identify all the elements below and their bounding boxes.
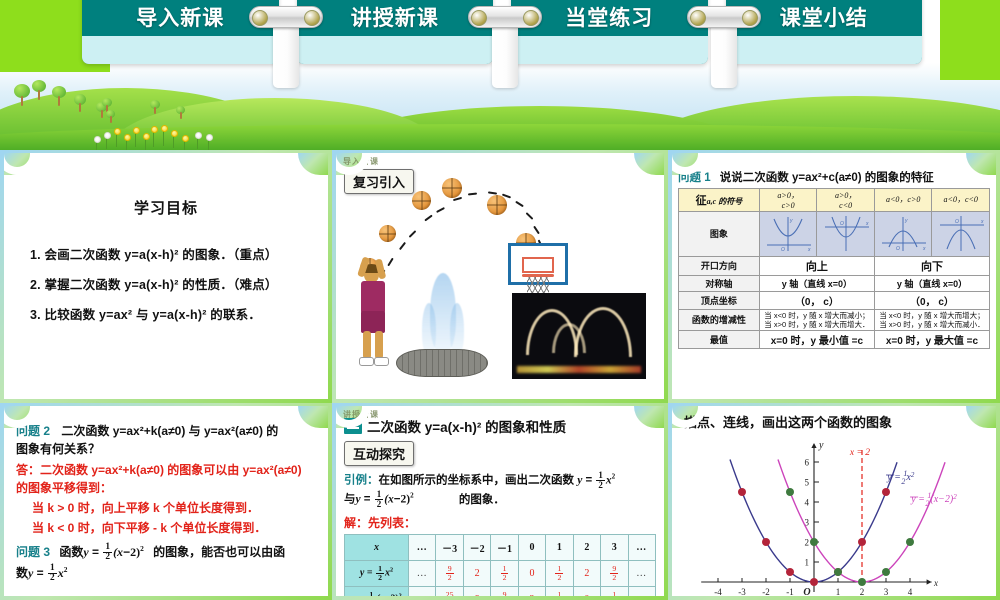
data-point-series-1 bbox=[738, 488, 746, 496]
table-cell: … bbox=[409, 534, 436, 560]
properties-table: 征a,c 的符号 a>0，c>0 a>0，c<0 a<0，c>0 a<0，c<0 bbox=[678, 188, 990, 350]
x-tick-label: 1 bbox=[836, 587, 841, 596]
tree-icon bbox=[150, 100, 161, 116]
table-cell: 12 bbox=[546, 586, 573, 596]
row-header-sign: 征a,c 的符号 bbox=[679, 188, 760, 211]
tab-clip-2 bbox=[468, 6, 542, 28]
table-cell: －3 bbox=[436, 534, 463, 560]
section-heading-text: 二次函数 y=a(x-h)² 的图象和性质 bbox=[367, 416, 566, 436]
table-cell: 92 bbox=[491, 586, 518, 596]
question3-line-cont: 数y = 12x2 bbox=[16, 564, 318, 584]
question1-text: 说说二次函数 y=ax²+c(a≠0) 的图象的特征 bbox=[720, 172, 934, 184]
mini-graph-cell: y O x bbox=[759, 211, 817, 256]
fountain-jet bbox=[450, 303, 464, 355]
question2-line1: 问题 2 二次函数 y=ax²+k(a≠0) 与 y=ax²(a≠0) 的 bbox=[16, 422, 318, 440]
table-cell: 2 bbox=[518, 586, 545, 596]
answer-line1: 答：二次函数 y=ax²+k(a≠0) 的图象可以由 y=ax²(a≠0) bbox=[16, 461, 318, 479]
x-tick-label: 4 bbox=[908, 587, 913, 596]
basketball-icon bbox=[487, 195, 507, 215]
example-line2: 与y = 12(x−2)2 的图象． bbox=[344, 490, 656, 509]
panel-teaching-table: 讲授新课 二次函数 y=a(x-h)² 的图象和性质 互动探究 引例：在如图所示… bbox=[332, 403, 668, 600]
slide-panel-grid: 学习目标 1. 会画二次函数 y=a(x-h)² 的图象．（重点） 2. 掌握二… bbox=[0, 150, 1000, 600]
table-cell: … bbox=[628, 560, 656, 586]
trajectory-dash bbox=[424, 215, 432, 222]
trajectory-dash bbox=[533, 226, 540, 235]
example-line1: 引例：在如图所示的坐标系中，画出二次函数 y = 12x2 bbox=[344, 471, 656, 490]
y-tick-label: 2 bbox=[805, 538, 810, 548]
question3-text-3: 数 bbox=[16, 566, 28, 580]
data-point-series-2 bbox=[810, 538, 818, 546]
y-axis-arrow bbox=[811, 443, 816, 448]
x-tick-label: -2 bbox=[762, 587, 770, 596]
example-label: 引例： bbox=[344, 475, 379, 487]
mini-parabola-up-below: O x bbox=[819, 213, 873, 253]
tab-daoru-xinke[interactable]: 导入新课 bbox=[82, 0, 279, 64]
table-cell: 当 x<0 时，y 随 x 增大而减小；当 x>0 时，y 随 x 增大而增大． bbox=[759, 309, 874, 331]
table-cell: 0 bbox=[518, 560, 545, 586]
question1-label: 问题 1 bbox=[678, 172, 711, 184]
table-cell: a<0，c<0 bbox=[932, 188, 990, 211]
question3-text-2: 的图象，能否也可以由函 bbox=[153, 545, 285, 559]
tab-clip-1 bbox=[249, 6, 323, 28]
table-cell: … bbox=[628, 586, 656, 596]
parabola-chart: xy-4-3-2-11234O123456x = 2y = 12x2y = 12… bbox=[672, 436, 996, 596]
table-cell: a<0，c>0 bbox=[874, 188, 932, 211]
table-cell: 1 bbox=[546, 534, 573, 560]
table-cell: 2 bbox=[573, 560, 600, 586]
trajectory-dash bbox=[526, 212, 534, 220]
goals-list: 1. 会画二次函数 y=a(x-h)² 的图象．（重点） 2. 掌握二次函数 y… bbox=[30, 244, 320, 323]
trajectory-dash bbox=[387, 258, 393, 267]
answer-line3: 当 k > 0 时，向上平移 k 个单位长度得到． bbox=[32, 499, 318, 517]
table-row: 对称轴 y 轴（直线 x=0） y 轴（直线 x=0） bbox=[679, 275, 990, 291]
table-row: 图象 y O x bbox=[679, 211, 990, 256]
banner-green-right bbox=[940, 0, 1000, 80]
tab-foot bbox=[511, 36, 708, 64]
trajectory-dash bbox=[436, 207, 445, 213]
values-table: x … －3 －2 －1 0 1 2 3 … y = 12x2 bbox=[344, 534, 656, 596]
tab-jiangshou-xinke[interactable]: 讲授新课 bbox=[297, 0, 494, 64]
table-cell: y 轴（直线 x=0） bbox=[759, 275, 874, 291]
table-row-label: x bbox=[345, 534, 409, 560]
fountain-base bbox=[396, 349, 488, 377]
tab-label: 当堂练习 bbox=[565, 2, 653, 32]
svg-text:x: x bbox=[865, 221, 869, 227]
hoop-inner-square bbox=[522, 257, 554, 273]
curve1-label: y = 12x2 bbox=[886, 469, 915, 486]
trajectory-dash bbox=[409, 230, 417, 238]
interactive-explore-badge: 互动探究 bbox=[344, 441, 414, 466]
table-row: y = 12(x−2)2 …252892212012… bbox=[345, 586, 656, 596]
svg-text:x: x bbox=[807, 247, 811, 253]
table-cell: 92 bbox=[436, 560, 463, 586]
row-label-monotonic: 函数的增减性 bbox=[679, 309, 760, 331]
basketball-icon bbox=[442, 178, 462, 198]
list-item: 3. 比较函数 y=ax² 与 y=a(x-h)² 的联系． bbox=[30, 304, 320, 323]
svg-text:x: x bbox=[922, 246, 926, 252]
hill-front bbox=[0, 124, 1000, 150]
table-cell: … bbox=[409, 586, 436, 596]
list-item: 1. 会画二次函数 y=a(x-h)² 的图象．（重点） bbox=[30, 244, 320, 263]
trajectory-dash bbox=[515, 201, 524, 207]
table-cell: … bbox=[409, 560, 436, 586]
table-row: x … －3 －2 －1 0 1 2 3 … bbox=[345, 534, 656, 560]
table-cell: 向下 bbox=[874, 256, 989, 275]
row-label-opening: 开口方向 bbox=[679, 256, 760, 275]
y-tick-label: 1 bbox=[805, 558, 810, 568]
panel-question1-table: 问题 1 说说二次函数 y=ax²+c(a≠0) 的图象的特征 征a,c 的符号… bbox=[668, 150, 1000, 403]
x-tick-label: -4 bbox=[714, 587, 722, 596]
x-tick-label: 3 bbox=[884, 587, 889, 596]
basketball-icon bbox=[412, 191, 431, 210]
list-item: 2. 掌握二次函数 y=a(x-h)² 的性质．（难点） bbox=[30, 274, 320, 293]
tab-foot bbox=[297, 36, 494, 64]
goals-title: 学习目标 bbox=[12, 197, 320, 218]
y-axis-label: y bbox=[818, 440, 824, 451]
question1-line: 问题 1 说说二次函数 y=ax²+c(a≠0) 的图象的特征 bbox=[678, 171, 990, 187]
tab-dangtang-lianxi[interactable]: 当堂练习 bbox=[511, 0, 708, 64]
svg-text:y: y bbox=[789, 218, 793, 224]
table-cell: 12 bbox=[546, 560, 573, 586]
answer-line4: 当 k < 0 时，向下平移 - k 个单位长度得到． bbox=[32, 519, 318, 537]
x-tick-label: -3 bbox=[738, 587, 746, 596]
top-banner: 导入新课 讲授新课 当堂练习 课堂小结 bbox=[0, 0, 1000, 150]
svg-text:O: O bbox=[896, 246, 900, 252]
y-tick-label: 4 bbox=[805, 498, 810, 508]
mini-parabola-up-above: y O x bbox=[761, 213, 815, 253]
data-point-series-1 bbox=[882, 488, 890, 496]
tree-icon bbox=[14, 84, 32, 108]
mini-parabola-down-below: O x bbox=[934, 213, 988, 253]
x-axis-label: x bbox=[933, 578, 938, 588]
y-tick-label: 6 bbox=[805, 458, 810, 468]
table-row: 函数的增减性 当 x<0 时，y 随 x 增大而减小；当 x>0 时，y 随 x… bbox=[679, 309, 990, 331]
example-text-1: 在如图所示的坐标系中，画出二次函数 bbox=[379, 475, 575, 487]
table-cell: 92 bbox=[601, 560, 628, 586]
table-cell: （0， c） bbox=[759, 291, 874, 309]
question3-text-1: 函数 bbox=[59, 545, 83, 559]
panel-graph: 描点、连线，画出这两个函数的图象 xy-4-3-2-11234O123456x … bbox=[668, 403, 1000, 600]
question2-label: 问题 2 bbox=[16, 424, 50, 438]
svg-text:y: y bbox=[904, 218, 908, 224]
table-cell: －1 bbox=[491, 534, 518, 560]
row-label-graph: 图象 bbox=[679, 211, 760, 256]
table-cell: a>0，c>0 bbox=[759, 188, 817, 211]
data-point-series-1 bbox=[762, 538, 770, 546]
mini-graph-cell: O x bbox=[932, 211, 990, 256]
tree-icon bbox=[176, 106, 186, 120]
table-cell: 3 bbox=[601, 534, 628, 560]
tree-icon bbox=[52, 86, 68, 108]
table-cell: 2 bbox=[463, 560, 490, 586]
table-cell: y 轴（直线 x=0） bbox=[874, 275, 989, 291]
tab-foot bbox=[726, 36, 923, 64]
data-point-series-1 bbox=[810, 578, 818, 586]
fountain-night-photo bbox=[512, 293, 646, 379]
tree-icon bbox=[74, 94, 88, 114]
x-axis-arrow bbox=[927, 579, 932, 584]
section-heading: 二次函数 y=a(x-h)² 的图象和性质 bbox=[344, 416, 656, 436]
tab-label: 讲授新课 bbox=[351, 2, 439, 32]
section-number-icon bbox=[344, 418, 362, 434]
solution-label: 解：先列表： bbox=[344, 514, 656, 531]
table-row: 最值 x=0 时，y 最小值 =c x=0 时，y 最大值 =c bbox=[679, 331, 990, 349]
table-cell: 252 bbox=[436, 586, 463, 596]
svg-text:x: x bbox=[980, 219, 984, 225]
mini-graph-cell: O x bbox=[817, 211, 875, 256]
basketball-icon bbox=[379, 225, 396, 242]
data-point-series-2 bbox=[858, 578, 866, 586]
row-label-axis: 对称轴 bbox=[679, 275, 760, 291]
tree-icon bbox=[32, 80, 48, 102]
table-row: 开口方向 向上 向下 bbox=[679, 256, 990, 275]
svg-text:O: O bbox=[781, 247, 785, 253]
table-cell: 当 x<0 时，y 随 x 增大而增大；当 x>0 时，y 随 x 增大而减小． bbox=[874, 309, 989, 331]
svg-text:O: O bbox=[955, 219, 959, 225]
trajectory-dash bbox=[468, 193, 477, 196]
tree-icon bbox=[106, 110, 116, 124]
vline-label: x = 2 bbox=[849, 448, 870, 458]
panel-intro-basketball: 导入新课 复习引入 bbox=[332, 150, 668, 403]
panel-question2-3: 问题 2 二次函数 y=ax²+k(a≠0) 与 y=ax²(a≠0) 的 图象… bbox=[0, 403, 332, 600]
question2-line2: 图象有何关系？ bbox=[16, 440, 318, 458]
data-point-series-1 bbox=[858, 538, 866, 546]
table-cell: … bbox=[628, 534, 656, 560]
data-point-series-2 bbox=[786, 488, 794, 496]
row-label-extremum: 最值 bbox=[679, 331, 760, 349]
table-row-label: y = 12x2 bbox=[345, 560, 409, 586]
table-cell: x=0 时，y 最大值 =c bbox=[874, 331, 989, 349]
table-row: y = 12x2 …92212012292… bbox=[345, 560, 656, 586]
panel-learning-goals: 学习目标 1. 会画二次函数 y=a(x-h)² 的图象．（重点） 2. 掌握二… bbox=[0, 150, 332, 403]
table-cell: 向上 bbox=[759, 256, 874, 275]
fountain-jet bbox=[422, 303, 436, 355]
mini-parabola-down-above: y O x bbox=[876, 213, 930, 253]
question2-text: 二次函数 y=ax²+k(a≠0) 与 y=ax²(a≠0) 的 bbox=[61, 424, 278, 438]
table-cell: 12 bbox=[601, 586, 628, 596]
graph-title: 描点、连线，画出这两个函数的图象 bbox=[684, 412, 996, 431]
curve2-label: y = 12(x−2)2 bbox=[910, 491, 957, 508]
svg-text:O: O bbox=[840, 221, 844, 227]
table-row: 征a,c 的符号 a>0，c>0 a>0，c<0 a<0，c>0 a<0，c<0 bbox=[679, 188, 990, 211]
basketball-illustration bbox=[336, 153, 664, 399]
tab-label: 课堂小结 bbox=[780, 2, 868, 32]
question3-line: 问题 3 函数y = 12(x−2)2 的图象，能否也可以由函 bbox=[16, 543, 318, 563]
answer-line2: 的图象平移得到： bbox=[16, 479, 318, 497]
x-tick-label: 2 bbox=[860, 587, 865, 596]
table-cell: x=0 时，y 最小值 =c bbox=[759, 331, 874, 349]
data-point-series-2 bbox=[906, 538, 914, 546]
tab-label: 导入新课 bbox=[136, 2, 224, 32]
y-tick-label: 5 bbox=[805, 478, 810, 488]
table-cell: 0 bbox=[518, 534, 545, 560]
table-cell: （0， c） bbox=[874, 291, 989, 309]
table-cell: a>0，c<0 bbox=[817, 188, 875, 211]
table-cell: －2 bbox=[463, 534, 490, 560]
question3-label: 问题 3 bbox=[16, 545, 50, 559]
example-text-2: 与 bbox=[344, 494, 356, 506]
table-cell: 0 bbox=[573, 586, 600, 596]
table-cell: 2 bbox=[573, 534, 600, 560]
tab-clip-3 bbox=[687, 6, 761, 28]
table-row-label: y = 12(x−2)2 bbox=[345, 586, 409, 596]
data-point-series-2 bbox=[882, 568, 890, 576]
table-row: 顶点坐标 （0， c） （0， c） bbox=[679, 291, 990, 309]
trajectory-dash bbox=[399, 242, 406, 250]
table-cell: 8 bbox=[463, 586, 490, 596]
tab-foot bbox=[82, 36, 279, 64]
data-point-series-1 bbox=[786, 568, 794, 576]
data-point-series-2 bbox=[834, 568, 842, 576]
x-tick-label: -1 bbox=[786, 587, 794, 596]
row-label-vertex: 顶点坐标 bbox=[679, 291, 760, 309]
origin-label: O bbox=[803, 587, 810, 596]
table-cell: 12 bbox=[491, 560, 518, 586]
mini-graph-cell: y O x bbox=[874, 211, 932, 256]
example-text-3: 的图象． bbox=[459, 494, 505, 506]
